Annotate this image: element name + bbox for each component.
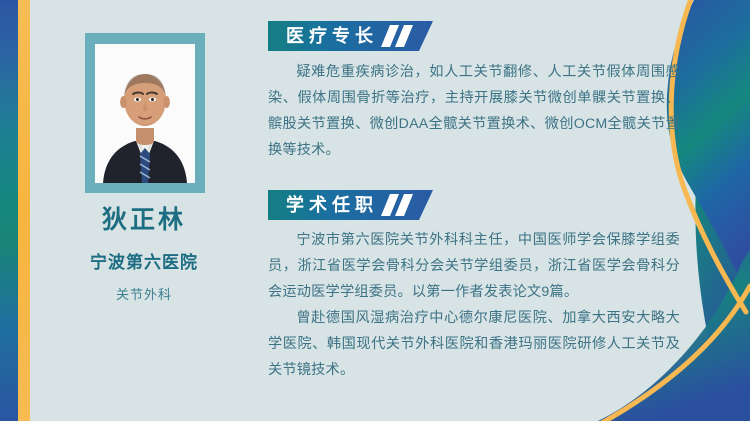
section-badge-medical-specialty: 医疗专长 <box>268 21 433 51</box>
medical-specialty-body: 疑难危重疾病诊治，如人工关节翻修、人工关节假体周围感染、假体周围骨折等治疗，主持… <box>268 59 680 163</box>
doctor-identity: 狄正林 宁波第六医院 关节外科 <box>30 205 258 303</box>
paragraph: 宁波市第六医院关节外科科主任，中国医师学会保膝学组委员，浙江省医学会骨科分会关节… <box>268 227 680 305</box>
doctor-profile-card: 狄正林 宁波第六医院 关节外科 医疗专长 疑难危重疾病诊治，如人工关节翻修、人工… <box>0 0 750 421</box>
portrait-frame <box>85 33 205 193</box>
section-badge-label: 学术任职 <box>286 190 378 220</box>
section-badge-label: 医疗专长 <box>286 21 378 51</box>
doctor-name: 狄正林 <box>30 205 258 236</box>
left-blue-stripe <box>0 0 18 421</box>
paragraph: 疑难危重疾病诊治，如人工关节翻修、人工关节假体周围感染、假体周围骨折等治疗，主持… <box>268 59 680 163</box>
academic-positions-body: 宁波市第六医院关节外科科主任，中国医师学会保膝学组委员，浙江省医学会骨科分会关节… <box>268 227 680 383</box>
avatar <box>95 44 195 183</box>
section-badge-academic-positions: 学术任职 <box>268 190 433 220</box>
doctor-department: 关节外科 <box>30 284 258 303</box>
paragraph: 曾赴德国风湿病治疗中心德尔康尼医院、加拿大西安大略大学医院、韩国现代关节外科医院… <box>268 305 680 383</box>
left-orange-stripe <box>18 0 30 421</box>
doctor-hospital: 宁波第六医院 <box>30 248 258 273</box>
